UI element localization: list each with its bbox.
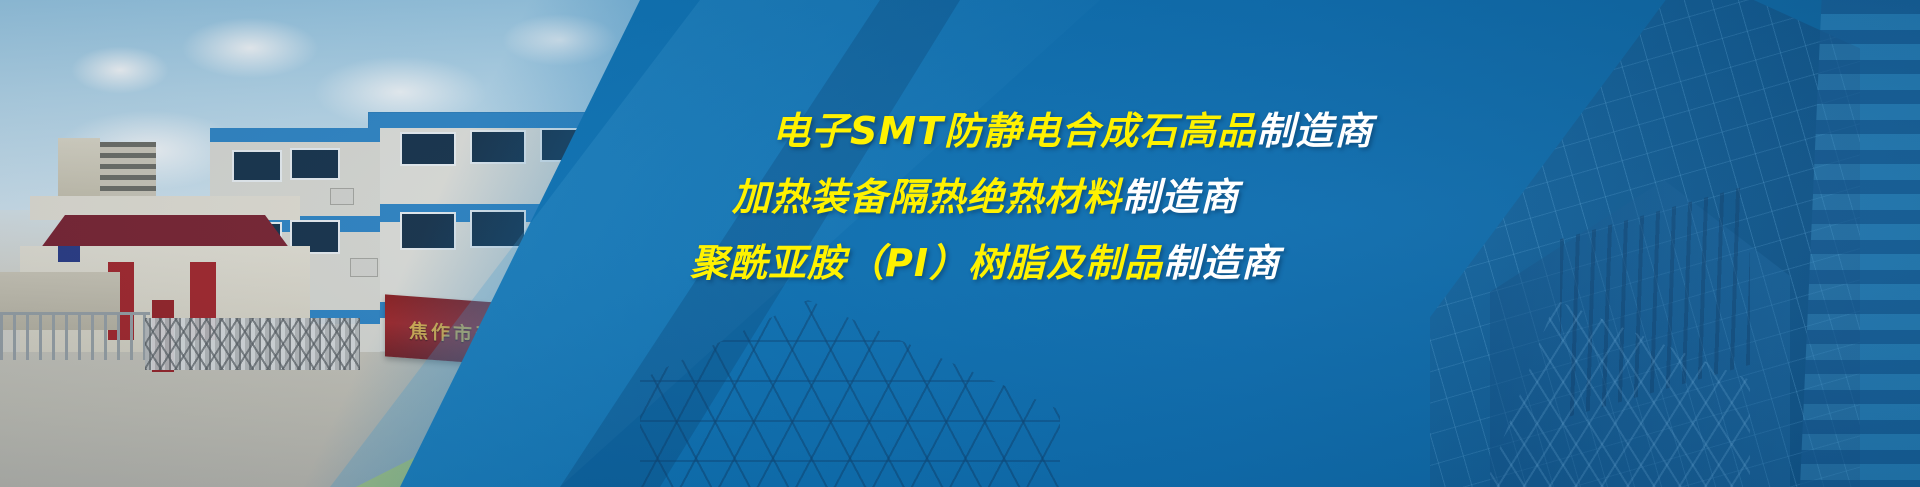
slogan-line-2-plain: 制造商 bbox=[1122, 175, 1239, 219]
window bbox=[610, 126, 666, 160]
fence-rail bbox=[0, 312, 150, 315]
window bbox=[540, 128, 596, 162]
roof-chimney bbox=[58, 138, 100, 202]
gatehouse-roof bbox=[40, 215, 290, 249]
slogan-line-2-highlight: 加热装备隔热绝热材料 bbox=[732, 175, 1122, 219]
window bbox=[470, 210, 526, 248]
air-conditioner-unit bbox=[330, 188, 354, 205]
slogan-line-1-plain: 制造商 bbox=[1256, 109, 1373, 153]
hero-banner: 焦作市天益科技有限公司 电子SMT防静电合成石高品制造商 加热装备隔热绝热材料制… bbox=[0, 0, 1920, 487]
retractable-gate-lattice bbox=[145, 318, 360, 370]
window bbox=[232, 150, 282, 182]
entrance-plate bbox=[58, 246, 80, 262]
slogan-line-3-highlight: 聚酰亚胺（PI）树脂及制品 bbox=[690, 241, 1163, 285]
factory-building-photo: 焦作市天益科技有限公司 bbox=[0, 0, 790, 487]
slogan-line-3-plain: 制造商 bbox=[1163, 241, 1280, 285]
slogan-line-2: 加热装备隔热绝热材料制造商 bbox=[732, 178, 1590, 216]
window bbox=[470, 130, 526, 164]
roof-louver bbox=[100, 142, 156, 196]
slogan-line-3: 聚酰亚胺（PI）树脂及制品制造商 bbox=[690, 244, 1590, 282]
diamond-facade-mesh bbox=[1480, 300, 1750, 487]
company-name-sign-text: 焦作市天益科技有限公司 bbox=[409, 316, 651, 357]
window bbox=[400, 132, 456, 166]
slogan-line-1-highlight: 电子SMT防静电合成石高品 bbox=[772, 109, 1256, 153]
striped-tower-silhouette bbox=[1800, 0, 1920, 487]
window bbox=[400, 212, 456, 250]
metal-fence bbox=[0, 312, 150, 360]
slogan-block: 电子SMT防静电合成石高品制造商 加热装备隔热绝热材料制造商 聚酰亚胺（PI）树… bbox=[690, 112, 1590, 282]
air-conditioner-unit bbox=[350, 258, 378, 277]
window bbox=[290, 148, 340, 180]
slogan-line-1: 电子SMT防静电合成石高品制造商 bbox=[772, 112, 1590, 150]
